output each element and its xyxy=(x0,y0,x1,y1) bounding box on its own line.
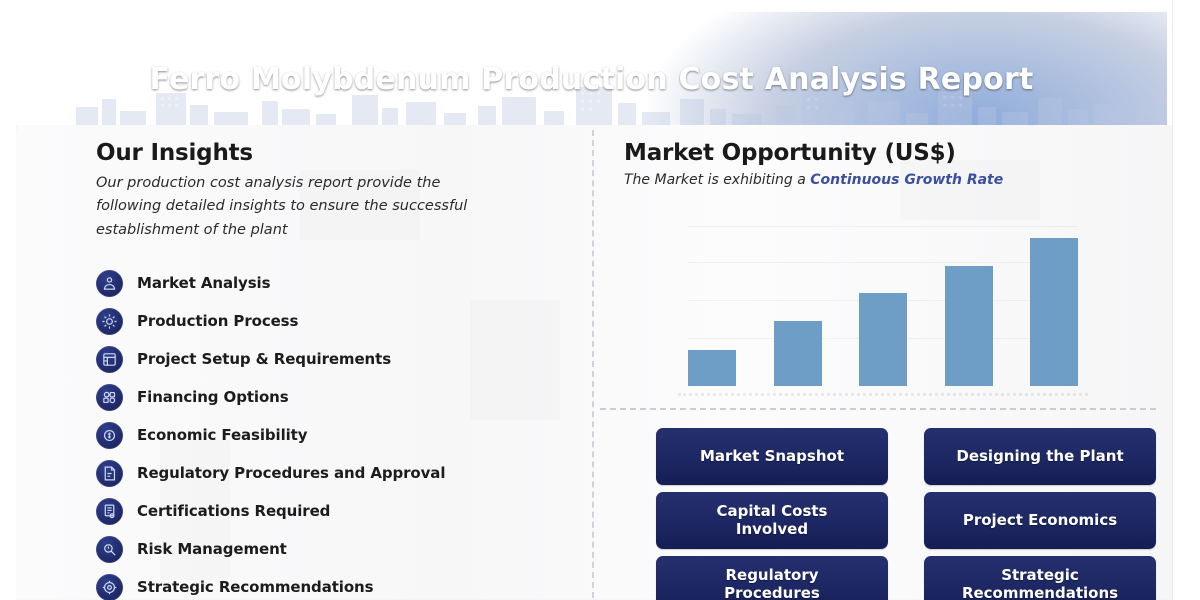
chart-bars xyxy=(688,218,1078,386)
strategic-recommendations-icon xyxy=(96,574,123,600)
vertical-divider xyxy=(592,130,594,598)
header-banner: Ferro Molybdenum Production Cost Analysi… xyxy=(16,12,1167,125)
insight-item-certifications-required[interactable]: Certifications Required xyxy=(96,492,566,530)
insight-label: Production Process xyxy=(137,312,298,330)
insights-lead: Our production cost analysis report prov… xyxy=(96,172,506,242)
button-capital-costs-involved[interactable]: Capital Costs Involved xyxy=(656,492,888,549)
subtitle-plain: The Market is exhibiting a xyxy=(624,172,810,188)
regulatory-procedures-icon xyxy=(96,460,123,487)
insight-item-economic-feasibility[interactable]: Economic Feasibility xyxy=(96,416,566,454)
insight-item-risk-management[interactable]: Risk Management xyxy=(96,530,566,568)
market-analysis-icon xyxy=(96,270,123,297)
chart-bar xyxy=(945,266,993,386)
page-title: Ferro Molybdenum Production Cost Analysi… xyxy=(16,62,1167,97)
market-opportunity-title: Market Opportunity (US$) xyxy=(624,140,1172,166)
risk-management-icon xyxy=(96,536,123,563)
insight-label: Strategic Recommendations xyxy=(137,578,373,596)
economic-feasibility-icon xyxy=(96,422,123,449)
button-project-economics[interactable]: Project Economics xyxy=(924,492,1156,549)
horizontal-divider xyxy=(600,408,1156,410)
chart-bar xyxy=(688,350,736,386)
page-right-rule xyxy=(1172,0,1173,600)
chart-bar xyxy=(859,293,907,386)
insight-item-production-process[interactable]: Production Process xyxy=(96,302,566,340)
insight-label: Risk Management xyxy=(137,540,287,558)
chart-bar xyxy=(774,321,822,386)
insight-item-financing-options[interactable]: Financing Options xyxy=(96,378,566,416)
insight-label: Certifications Required xyxy=(137,502,330,520)
subtitle-highlight: Continuous Growth Rate xyxy=(810,172,1003,188)
button-designing-the-plant[interactable]: Designing the Plant xyxy=(924,428,1156,485)
market-opportunity-subtitle: The Market is exhibiting a Continuous Gr… xyxy=(624,172,1172,188)
insights-list: Market Analysis Production Process xyxy=(96,264,566,600)
insight-item-regulatory-procedures[interactable]: Regulatory Procedures and Approval xyxy=(96,454,566,492)
button-strategic-recommendations[interactable]: Strategic Recommendations xyxy=(924,556,1156,600)
financing-options-icon xyxy=(96,384,123,411)
market-opportunity-panel: Market Opportunity (US$) The Market is e… xyxy=(624,140,1172,188)
certifications-icon xyxy=(96,498,123,525)
insight-item-strategic-recommendations[interactable]: Strategic Recommendations xyxy=(96,568,566,600)
insight-label: Market Analysis xyxy=(137,274,270,292)
section-button-grid: Market Snapshot Designing the Plant Capi… xyxy=(656,428,1156,600)
chart-bar xyxy=(1030,238,1078,386)
insight-label: Regulatory Procedures and Approval xyxy=(137,464,445,482)
project-setup-icon xyxy=(96,346,123,373)
production-process-icon xyxy=(96,308,123,335)
report-page: Ferro Molybdenum Production Cost Analysi… xyxy=(0,0,1200,600)
insight-label: Project Setup & Requirements xyxy=(137,350,391,368)
insights-title: Our Insights xyxy=(96,140,566,166)
insights-panel: Our Insights Our production cost analysi… xyxy=(96,140,566,600)
insight-item-project-setup[interactable]: Project Setup & Requirements xyxy=(96,340,566,378)
market-growth-bar-chart xyxy=(624,218,1172,394)
button-market-snapshot[interactable]: Market Snapshot xyxy=(656,428,888,485)
chart-baseline xyxy=(678,393,1088,396)
chart-plot-area xyxy=(688,218,1078,386)
insight-item-market-analysis[interactable]: Market Analysis xyxy=(96,264,566,302)
insight-label: Economic Feasibility xyxy=(137,426,307,444)
button-regulatory-procedures[interactable]: Regulatory Procedures xyxy=(656,556,888,600)
insight-label: Financing Options xyxy=(137,388,289,406)
